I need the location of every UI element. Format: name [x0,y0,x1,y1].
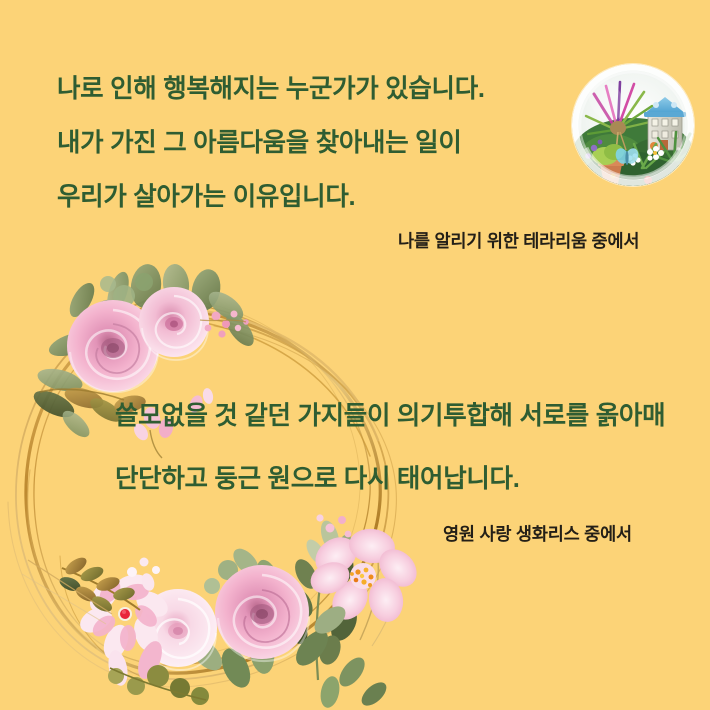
attribution-two: 영원 사랑 생화리스 중에서 [443,521,632,546]
quote-block-one: 나로 인해 행복해지는 누군가가 있습니다. 내가 가진 그 아름다움을 찾아내… [57,62,485,224]
quote-two-line-1: 쓸모없을 것 같던 가지들이 의기투합해 서로를 옭아매 [115,385,665,448]
quote-two-line-2: 단단하고 둥근 원으로 다시 태어납니다. [115,448,665,511]
greeting-card: 나로 인해 행복해지는 누군가가 있습니다. 내가 가진 그 아름다움을 찾아내… [0,0,710,710]
wreath-cluster-bottom [22,514,424,710]
quote-block-two: 쓸모없을 것 같던 가지들이 의기투합해 서로를 옭아매 단단하고 둥근 원으로… [115,385,665,511]
attribution-one: 나를 알리기 위한 테라리움 중에서 [398,228,639,253]
quote-one-line-2: 내가 가진 그 아름다움을 찾아내는 일이 [57,116,485,170]
quote-one-line-1: 나로 인해 행복해지는 누군가가 있습니다. [57,62,485,116]
quote-one-line-3: 우리가 살아가는 이유입니다. [57,170,485,224]
rose-medium-top-left [139,287,209,360]
terrarium-photo [572,64,694,186]
